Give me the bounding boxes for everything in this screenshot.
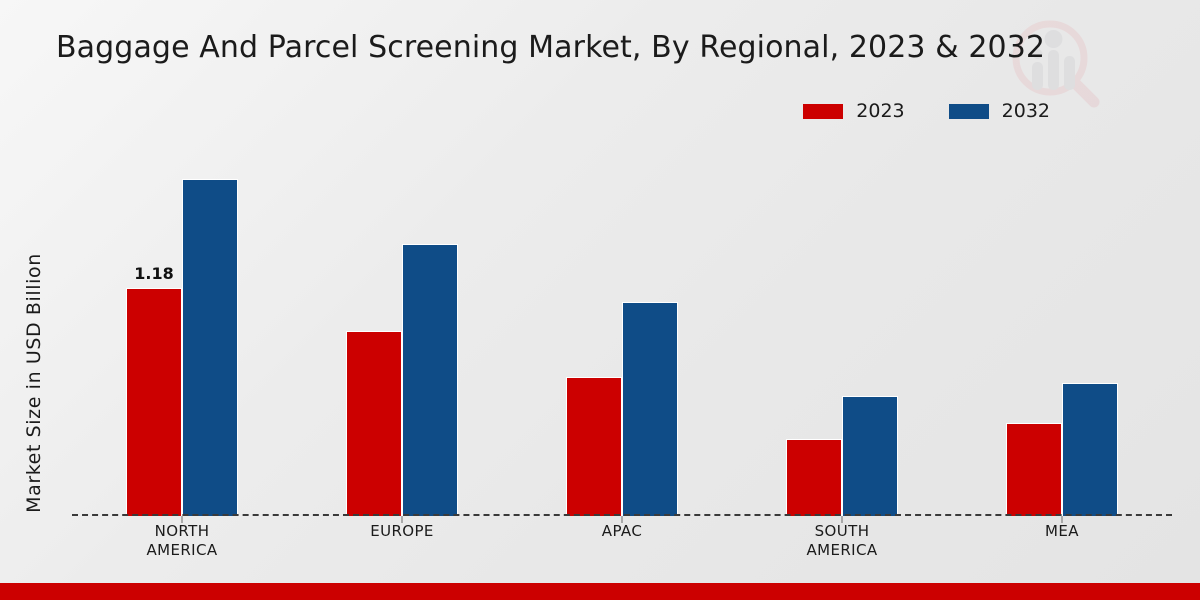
bar-2032-north-america[interactable] (182, 179, 238, 516)
bar-groups: 1.18 (72, 140, 1172, 516)
x-axis-label-mea: MEA (952, 522, 1172, 560)
bar-2023-europe[interactable] (346, 331, 402, 516)
bar-2032-mea[interactable] (1062, 383, 1118, 516)
legend-item-2032[interactable]: 2032 (949, 100, 1050, 122)
bar-group-europe (292, 140, 512, 516)
x-axis-label-apac: APAC (512, 522, 732, 560)
y-axis-title: Market Size in USD Billion (23, 203, 45, 563)
bar-2023-apac[interactable] (566, 377, 622, 516)
legend-label-2023: 2023 (856, 100, 904, 122)
x-axis-label-europe: EUROPE (292, 522, 512, 560)
bar-group-mea (952, 140, 1172, 516)
legend-swatch-2032-icon (949, 104, 989, 119)
bar-value-label: 1.18 (134, 264, 173, 283)
x-axis-baseline (72, 514, 1172, 516)
plot-area: 1.18 (72, 140, 1172, 516)
bar-2023-south-america[interactable] (786, 439, 842, 516)
footer-accent-bar (0, 583, 1200, 600)
x-axis-label-north-america: NORTHAMERICA (72, 522, 292, 560)
legend-swatch-2023-icon (803, 104, 843, 119)
bar-group-south-america (732, 140, 952, 516)
bar-group-north-america: 1.18 (72, 140, 292, 516)
x-axis-label-south-america: SOUTHAMERICA (732, 522, 952, 560)
chart-legend: 2023 2032 (803, 100, 1050, 122)
chart-title: Baggage And Parcel Screening Market, By … (56, 30, 1045, 65)
bar-2023-north-america[interactable]: 1.18 (126, 288, 182, 516)
chart-container: Baggage And Parcel Screening Market, By … (0, 0, 1200, 600)
bar-2032-apac[interactable] (622, 302, 678, 516)
bar-2032-europe[interactable] (402, 244, 458, 516)
x-axis-labels: NORTHAMERICA EUROPE APAC SOUTHAMERICA ME… (72, 522, 1172, 560)
bar-group-apac (512, 140, 732, 516)
legend-label-2032: 2032 (1002, 100, 1050, 122)
bar-2023-mea[interactable] (1006, 423, 1062, 516)
bar-2032-south-america[interactable] (842, 396, 898, 516)
legend-item-2023[interactable]: 2023 (803, 100, 904, 122)
